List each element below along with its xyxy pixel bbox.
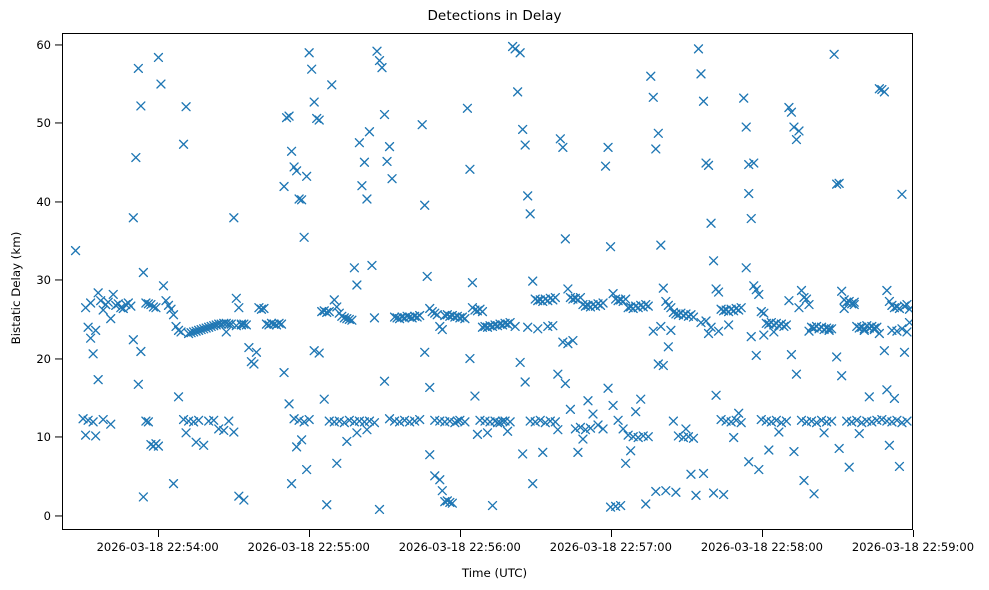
x-tick-label: 2026-03-18 22:59:00 [852, 540, 974, 554]
data-point [288, 480, 296, 488]
data-point [604, 143, 612, 151]
data-point [579, 435, 587, 443]
data-point [308, 65, 316, 73]
x-tick-mark [762, 530, 763, 537]
x-tick-mark [158, 530, 159, 537]
data-point [747, 215, 755, 223]
data-point [511, 45, 519, 53]
data-point [506, 418, 514, 426]
data-point [687, 470, 695, 478]
data-point [328, 81, 336, 89]
data-point [489, 502, 497, 510]
data-point [89, 350, 97, 358]
data-point [438, 326, 446, 334]
data-point [320, 395, 328, 403]
data-point [370, 314, 378, 322]
data-point [551, 418, 559, 426]
data-point [790, 448, 798, 456]
data-point [697, 70, 705, 78]
data-point [139, 269, 147, 277]
data-point [97, 297, 105, 305]
data-point [182, 429, 190, 437]
data-point [421, 348, 429, 356]
x-axis-label: Time (UTC) [0, 566, 989, 580]
data-point [330, 296, 338, 304]
x-tick-mark [611, 530, 612, 537]
y-tick-label: 0 [0, 509, 51, 523]
data-point [463, 104, 471, 112]
data-point [561, 380, 569, 388]
scatter-series [63, 34, 912, 529]
data-point [642, 500, 650, 508]
data-point [647, 72, 655, 80]
data-point [576, 294, 584, 302]
data-point [230, 428, 238, 436]
data-point [516, 49, 524, 57]
data-point [599, 425, 607, 433]
data-point [561, 235, 569, 243]
data-point [373, 47, 381, 55]
data-point [770, 328, 778, 336]
data-point [792, 136, 800, 144]
data-point [333, 459, 341, 467]
data-point [589, 410, 597, 418]
data-point [484, 429, 492, 437]
data-point [898, 190, 906, 198]
data-point [657, 241, 665, 249]
data-point [594, 421, 602, 429]
data-point [637, 395, 645, 403]
data-point [742, 123, 750, 131]
data-point [383, 157, 391, 165]
data-point [376, 505, 384, 513]
data-point [519, 450, 527, 458]
y-tick-mark [55, 123, 62, 124]
data-point [250, 360, 258, 368]
data-point [526, 210, 534, 218]
data-point [310, 98, 318, 106]
data-point [735, 409, 743, 417]
data-point [700, 469, 708, 477]
y-tick-label: 20 [0, 352, 51, 366]
x-tick-mark [913, 530, 914, 537]
data-point [710, 489, 718, 497]
data-point [107, 420, 115, 428]
data-point [315, 116, 323, 124]
data-point [885, 441, 893, 449]
x-tick-label: 2026-03-18 22:55:00 [248, 540, 370, 554]
data-point [574, 448, 582, 456]
data-point [529, 480, 537, 488]
data-point [644, 433, 652, 441]
data-point [524, 192, 532, 200]
data-point [632, 408, 640, 416]
data-point [534, 325, 542, 333]
data-point [787, 351, 795, 359]
data-point [740, 94, 748, 102]
data-point [232, 294, 240, 302]
data-point [386, 143, 394, 151]
data-point [252, 348, 260, 356]
y-tick-mark [55, 280, 62, 281]
data-point [378, 64, 386, 72]
data-point [381, 111, 389, 119]
data-point [797, 287, 805, 295]
data-point [652, 145, 660, 153]
data-point [622, 295, 630, 303]
data-point [303, 172, 311, 180]
data-point [200, 441, 208, 449]
data-point [792, 370, 800, 378]
data-point [890, 394, 898, 402]
data-point [87, 299, 95, 307]
data-point [622, 459, 630, 467]
data-point [360, 158, 368, 166]
data-point [667, 326, 675, 334]
data-point [132, 154, 140, 162]
data-point [516, 358, 524, 366]
data-point [305, 49, 313, 57]
data-point [795, 304, 803, 312]
data-point [381, 377, 389, 385]
data-point [134, 380, 142, 388]
data-point [285, 112, 293, 120]
data-point [235, 304, 243, 312]
data-point [707, 219, 715, 227]
data-point [554, 426, 562, 434]
data-point [775, 428, 783, 436]
data-point [363, 195, 371, 203]
data-point [654, 129, 662, 137]
data-point [554, 370, 562, 378]
data-point [182, 103, 190, 111]
data-point [426, 451, 434, 459]
data-point [293, 167, 301, 175]
data-point [109, 290, 117, 298]
data-point [506, 319, 514, 327]
data-point [782, 321, 790, 329]
y-tick-mark [55, 358, 62, 359]
data-point [343, 437, 351, 445]
data-point [875, 330, 883, 338]
data-point [416, 312, 424, 320]
data-point [649, 93, 657, 101]
data-point [514, 88, 522, 96]
data-point [715, 327, 723, 335]
data-point [99, 416, 107, 424]
data-point [672, 488, 680, 496]
y-tick-mark [55, 515, 62, 516]
data-point [785, 297, 793, 305]
data-point [473, 430, 481, 438]
data-point [365, 128, 373, 136]
data-point [423, 272, 431, 280]
data-point [363, 426, 371, 434]
data-point [659, 284, 667, 292]
data-point [436, 476, 444, 484]
data-point [180, 140, 188, 148]
data-point [627, 447, 635, 455]
data-point [107, 315, 115, 323]
data-point [157, 80, 165, 88]
data-point [134, 64, 142, 72]
y-tick-mark [55, 437, 62, 438]
x-tick-label: 2026-03-18 22:57:00 [550, 540, 672, 554]
data-point [350, 264, 358, 272]
y-tick-label: 40 [0, 195, 51, 209]
data-point [438, 487, 446, 495]
data-point [765, 446, 773, 454]
data-point [210, 416, 218, 424]
data-point [730, 434, 738, 442]
data-point [323, 501, 331, 509]
data-point [705, 161, 713, 169]
data-point [431, 472, 439, 480]
data-point [820, 429, 828, 437]
data-point [669, 417, 677, 425]
data-point [883, 287, 891, 295]
data-point [700, 97, 708, 105]
data-point [358, 182, 366, 190]
data-point [838, 287, 846, 295]
data-point [720, 491, 728, 499]
x-tick-label: 2026-03-18 22:58:00 [701, 540, 823, 554]
data-point [549, 322, 557, 330]
data-point [662, 487, 670, 495]
data-point [607, 243, 615, 251]
data-point [556, 135, 564, 143]
data-point [240, 496, 248, 504]
data-point [519, 125, 527, 133]
data-point [742, 264, 750, 272]
data-point [154, 53, 162, 61]
data-point [614, 416, 622, 424]
data-point [426, 383, 434, 391]
data-point [833, 353, 841, 361]
data-point [883, 386, 891, 394]
data-point [137, 102, 145, 110]
data-point [504, 427, 512, 435]
data-point [602, 162, 610, 170]
data-point [129, 336, 137, 344]
data-point [682, 425, 690, 433]
y-tick-mark [55, 44, 62, 45]
data-point [280, 183, 288, 191]
data-point [755, 466, 763, 474]
data-point [838, 372, 846, 380]
data-point [830, 50, 838, 58]
data-point [303, 466, 311, 474]
data-point [551, 294, 559, 302]
figure-canvas: Detections in Delay Bistatic Delay (km) … [0, 0, 989, 590]
data-point [418, 121, 426, 129]
x-tick-mark [460, 530, 461, 537]
data-point [790, 123, 798, 131]
y-tick-label: 60 [0, 38, 51, 52]
data-point [177, 328, 185, 336]
data-point [810, 490, 818, 498]
x-tick-label: 2026-03-18 22:54:00 [97, 540, 219, 554]
data-point [715, 288, 723, 296]
data-point [865, 393, 873, 401]
data-point [129, 214, 137, 222]
data-point [84, 323, 92, 331]
data-point [619, 425, 627, 433]
data-point [421, 201, 429, 209]
data-point [707, 323, 715, 331]
data-point [72, 247, 80, 255]
data-point [539, 448, 547, 456]
data-point [609, 401, 617, 409]
data-point [466, 165, 474, 173]
data-point [880, 347, 888, 355]
data-point [298, 436, 306, 444]
data-point [644, 302, 652, 310]
x-tick-label: 2026-03-18 22:56:00 [399, 540, 521, 554]
data-point [285, 400, 293, 408]
data-point [288, 147, 296, 155]
data-point [649, 327, 657, 335]
data-point [222, 328, 230, 336]
data-point [300, 233, 308, 241]
data-point [795, 127, 803, 135]
chart-title: Detections in Delay [0, 8, 989, 24]
data-point [760, 309, 768, 317]
data-point [760, 331, 768, 339]
data-point [466, 355, 474, 363]
data-point [280, 369, 288, 377]
data-point [725, 321, 733, 329]
data-point [695, 45, 703, 53]
data-point [376, 57, 384, 65]
data-point [230, 214, 238, 222]
data-point [692, 491, 700, 499]
data-point [368, 261, 376, 269]
data-point [584, 397, 592, 405]
data-point [657, 322, 665, 330]
data-point [170, 480, 178, 488]
data-point [245, 344, 253, 352]
data-point [752, 351, 760, 359]
data-point [87, 334, 95, 342]
data-point [835, 444, 843, 452]
x-tick-mark [309, 530, 310, 537]
data-point [355, 139, 363, 147]
data-point [521, 141, 529, 149]
data-point [900, 348, 908, 356]
data-point [604, 384, 612, 392]
data-point [94, 376, 102, 384]
data-point [800, 477, 808, 485]
data-point [225, 417, 233, 425]
data-point [895, 462, 903, 470]
data-point [139, 493, 147, 501]
y-tick-mark [55, 201, 62, 202]
data-point [712, 391, 720, 399]
data-point [511, 322, 519, 330]
data-point [353, 281, 361, 289]
data-point [159, 282, 167, 290]
data-point [92, 432, 100, 440]
data-point [94, 289, 102, 297]
data-point [521, 378, 529, 386]
data-point [461, 315, 469, 323]
y-tick-label: 10 [0, 430, 51, 444]
data-point [855, 430, 863, 438]
data-point [564, 285, 572, 293]
data-point [617, 502, 625, 510]
data-point [478, 308, 486, 316]
data-point [175, 393, 183, 401]
data-point [664, 343, 672, 351]
data-point [235, 492, 243, 500]
data-point [845, 463, 853, 471]
y-tick-label: 30 [0, 273, 51, 287]
data-point [689, 313, 697, 321]
data-point [293, 443, 301, 451]
data-point [468, 279, 476, 287]
data-point [710, 257, 718, 265]
data-point [905, 319, 912, 327]
data-point [154, 442, 162, 450]
data-point [92, 326, 100, 334]
data-point [388, 175, 396, 183]
data-point [652, 487, 660, 495]
plot-area [62, 33, 913, 530]
data-point [705, 330, 713, 338]
data-point [471, 392, 479, 400]
data-point [737, 304, 745, 312]
data-point [137, 348, 145, 356]
data-point [353, 429, 361, 437]
data-point [745, 458, 753, 466]
data-point [745, 190, 753, 198]
data-point [840, 304, 848, 312]
data-point [524, 323, 532, 331]
data-point [566, 405, 574, 413]
data-point [747, 333, 755, 341]
data-point [529, 277, 537, 285]
data-point [599, 299, 607, 307]
data-point [828, 417, 836, 425]
data-point [82, 431, 90, 439]
y-tick-label: 50 [0, 116, 51, 130]
data-point [192, 438, 200, 446]
data-point [559, 143, 567, 151]
data-point [333, 303, 341, 311]
